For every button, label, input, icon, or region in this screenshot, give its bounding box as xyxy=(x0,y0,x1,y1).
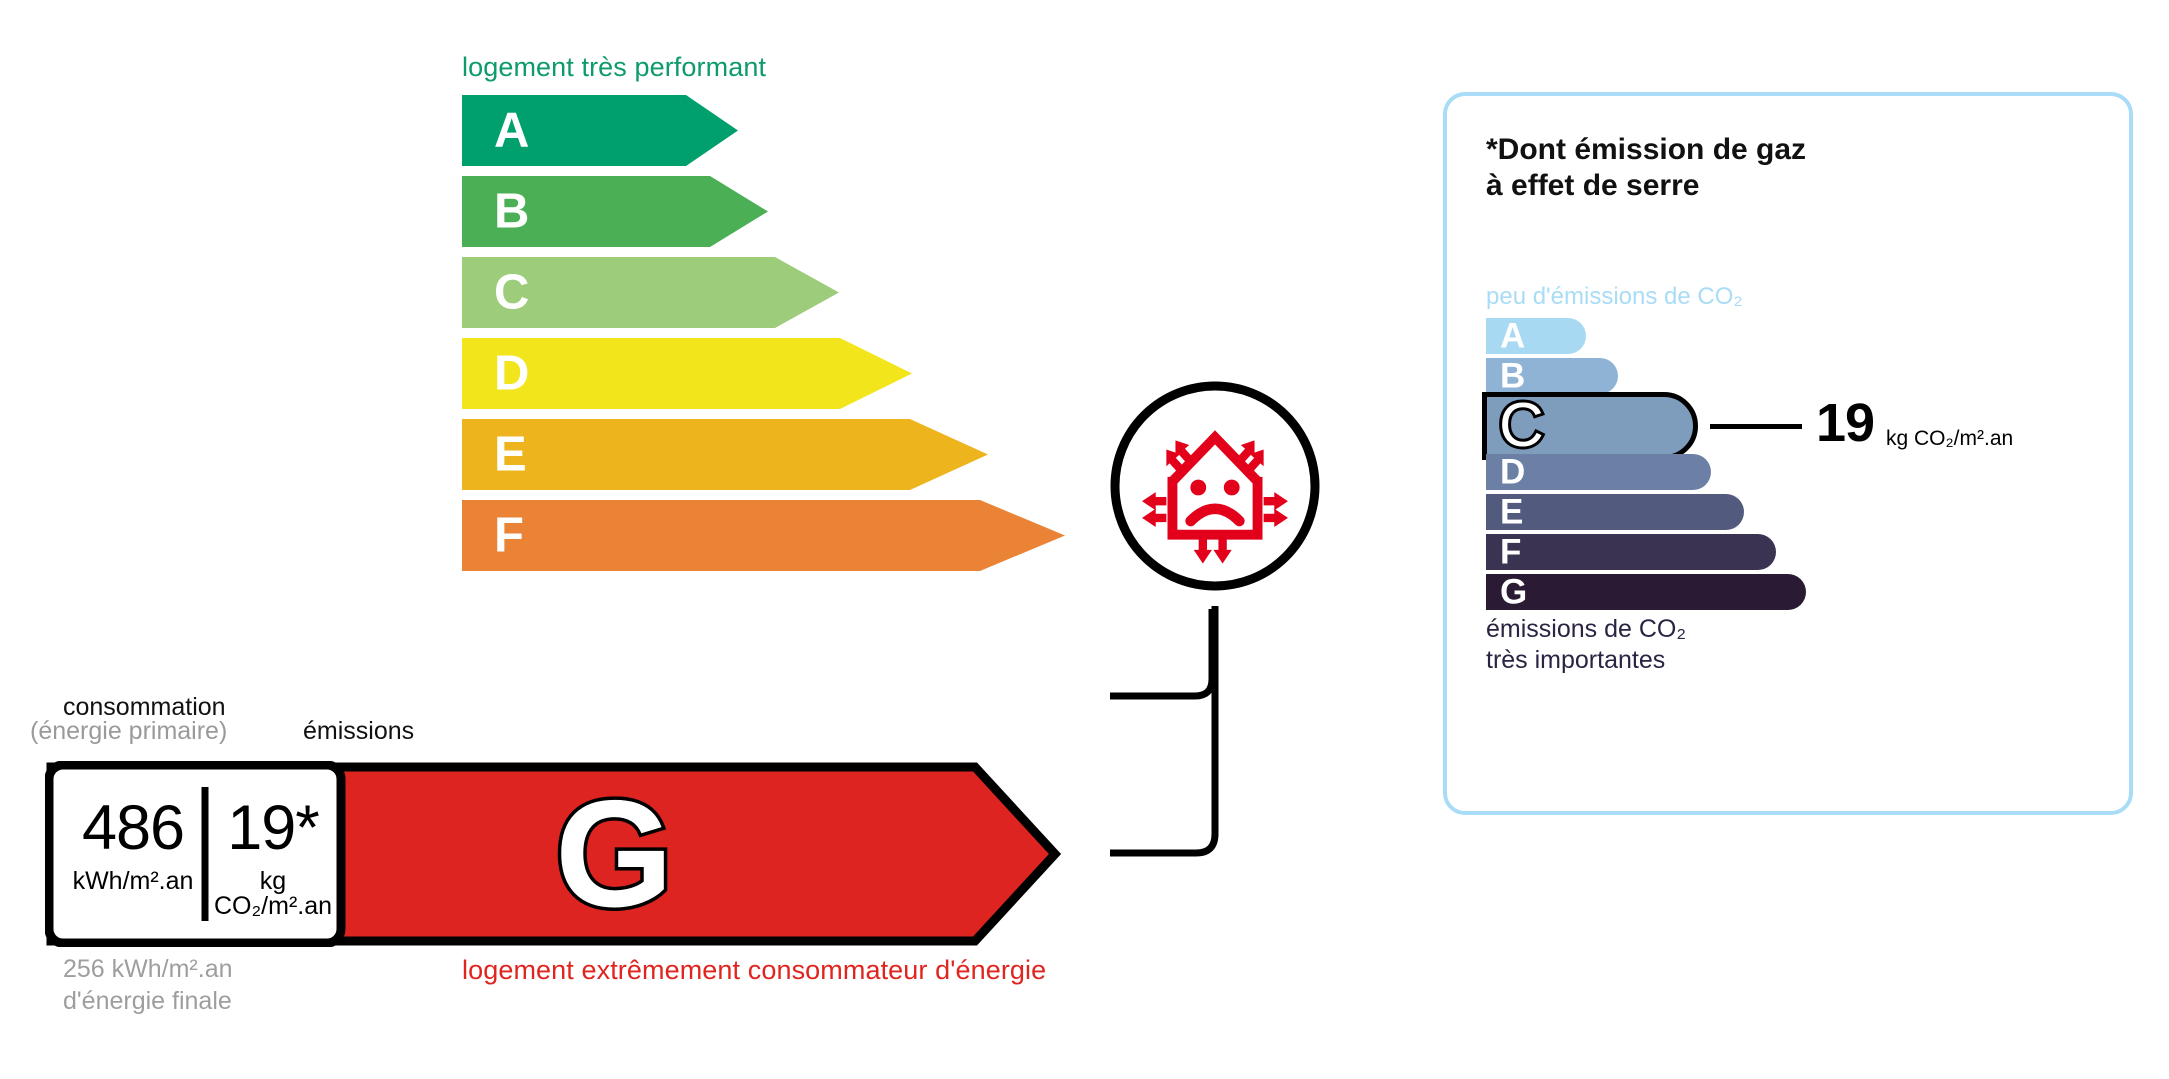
label-energie-primaire: (énergie primaire) xyxy=(30,717,227,746)
energy-grade-letter-b: B xyxy=(494,187,529,236)
consumption-unit: kWh/m².an xyxy=(63,869,203,894)
co2-grade-row-c-selected: C xyxy=(1482,392,1698,460)
co2-top-label: peu d'émissions de CO₂ xyxy=(1486,283,1743,311)
energy-grade-row-c: C xyxy=(462,257,839,328)
consumption-readout: 486 kWh/m².an xyxy=(63,797,203,894)
emission-value: 19* xyxy=(207,797,339,860)
consumption-value: 486 xyxy=(63,797,203,860)
energy-grade-row-d: D xyxy=(462,338,912,409)
energy-grade-arrow-f: F xyxy=(462,500,1065,571)
energy-grade-row-e: E xyxy=(462,419,988,490)
final-energy-note: 256 kWh/m².an d'énergie finale xyxy=(63,953,233,1017)
co2-selected-letter: C xyxy=(1499,395,1544,457)
co2-bottom-label: émissions de CO₂ très importantes xyxy=(1486,614,1686,675)
energy-performance-scale: logement très performant ABCDEF consomma… xyxy=(0,0,1250,1079)
energy-grade-arrow-e: E xyxy=(462,419,988,490)
energy-grade-letter-e: E xyxy=(494,430,527,479)
co2-grade-row-a: A xyxy=(1486,318,1586,354)
emission-unit: kg CO₂/m².an xyxy=(207,869,339,919)
label-emissions: émissions xyxy=(303,717,414,746)
energy-grade-letter-c: C xyxy=(494,268,529,317)
badge-connector-line xyxy=(1110,609,1212,696)
co2-letter-g: G xyxy=(1500,575,1527,610)
selected-grade-row-g: 486 kWh/m².an 19* kg CO₂/m².an G xyxy=(45,761,1145,947)
co2-letter-b: B xyxy=(1500,359,1525,394)
energy-grade-arrow-c: C xyxy=(462,257,839,328)
co2-letter-a: A xyxy=(1500,319,1525,354)
energy-grade-arrow-b: B xyxy=(462,176,768,247)
co2-bar-e: E xyxy=(1486,494,1744,530)
selected-grade-letter: G xyxy=(555,778,673,930)
co2-value-unit: kg CO₂/m².an xyxy=(1886,428,2013,449)
co2-letter-d: D xyxy=(1500,455,1525,490)
co2-grade-row-b: B xyxy=(1486,358,1618,394)
co2-leader-line xyxy=(1710,424,1802,429)
badge-ring xyxy=(1115,386,1315,586)
co2-panel-title: *Dont émission de gaz à effet de serre xyxy=(1486,132,1806,204)
co2-grade-row-g: G xyxy=(1486,574,1806,610)
energy-grade-letter-f: F xyxy=(494,511,524,560)
energy-grade-arrow-d: D xyxy=(462,338,912,409)
co2-bar-b: B xyxy=(1486,358,1618,394)
co2-bar-f: F xyxy=(1486,534,1776,570)
co2-bar-d: D xyxy=(1486,454,1711,490)
co2-grade-row-e: E xyxy=(1486,494,1744,530)
energy-grade-letter-d: D xyxy=(494,349,529,398)
co2-letter-f: F xyxy=(1500,535,1521,570)
scale-bottom-label: logement extrêmement consommateur d'éner… xyxy=(462,955,1046,986)
house-energy-badge xyxy=(1110,366,1320,926)
co2-bar-a: A xyxy=(1486,318,1586,354)
scale-top-label: logement très performant xyxy=(462,52,766,83)
energy-grade-row-a: A xyxy=(462,95,738,166)
badge-leader-line xyxy=(1110,606,1215,853)
greenhouse-gas-panel: *Dont émission de gaz à effet de serre p… xyxy=(1443,92,2133,815)
energy-grade-row-f: F xyxy=(462,500,1065,571)
co2-value: 19 xyxy=(1816,396,1874,450)
co2-grade-row-d: D xyxy=(1486,454,1711,490)
co2-grade-row-f: F xyxy=(1486,534,1776,570)
energy-grade-letter-a: A xyxy=(494,106,529,155)
co2-letter-e: E xyxy=(1500,495,1523,530)
energy-grade-arrow-a: A xyxy=(462,95,738,166)
energy-grade-row-b: B xyxy=(462,176,768,247)
sad-house-energy-loss-icon xyxy=(1110,366,1320,926)
co2-bar-g: G xyxy=(1486,574,1806,610)
emission-readout: 19* kg CO₂/m².an xyxy=(207,797,339,919)
